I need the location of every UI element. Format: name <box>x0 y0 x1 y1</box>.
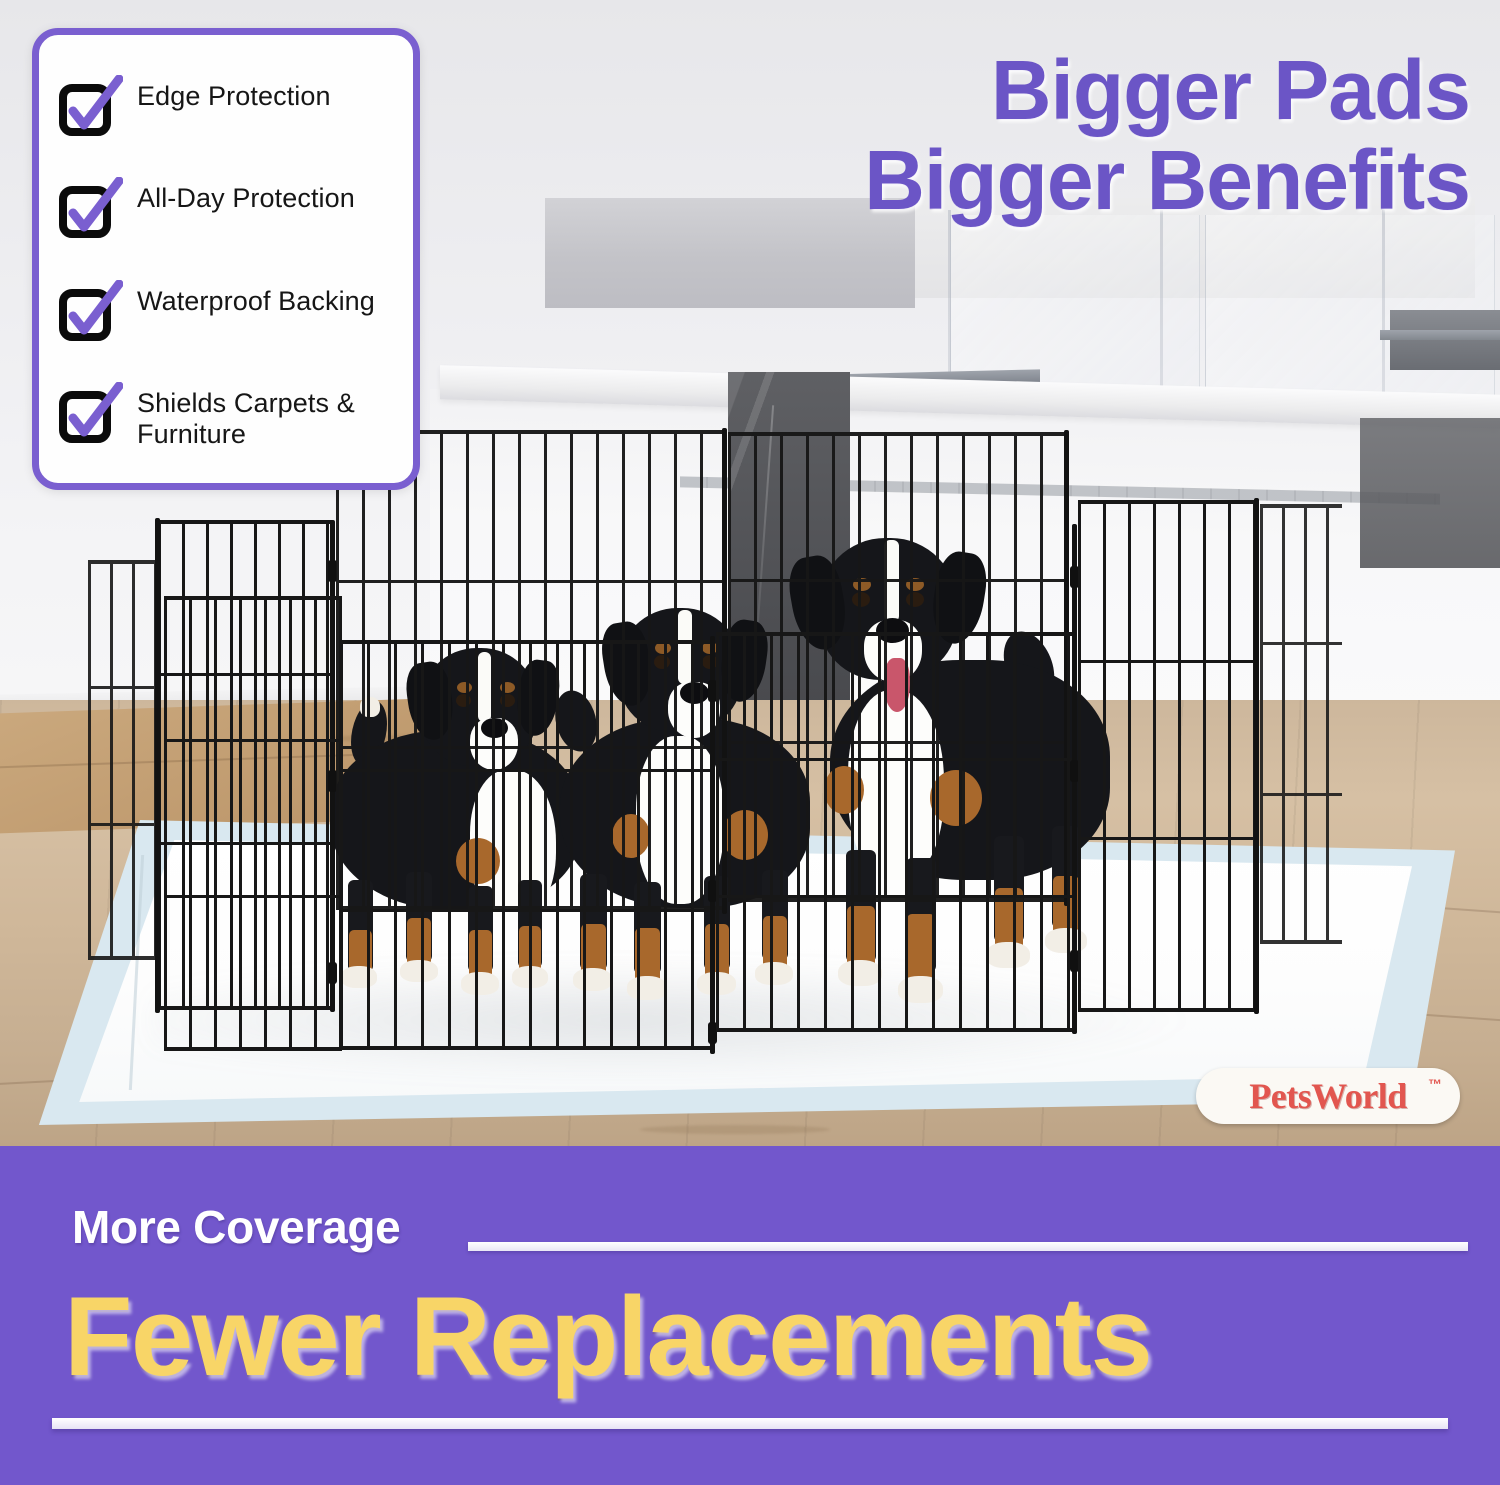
feature-item-waterproof-backing: Waterproof Backing <box>59 282 395 344</box>
pen-panel-right-rear <box>1260 504 1342 944</box>
banner-divider-top <box>468 1242 1468 1251</box>
trademark-symbol: ™ <box>1428 1076 1442 1092</box>
main-headline: Bigger Pads Bigger Benefits <box>750 48 1470 222</box>
brand-logo: PetsWorld ™ <box>1196 1068 1460 1124</box>
banner-eyebrow: More Coverage <box>72 1200 400 1254</box>
pen-panel-front-left <box>164 596 342 1051</box>
checkbox-check-icon <box>59 81 117 137</box>
feature-label: Waterproof Backing <box>137 284 375 318</box>
features-card: Edge Protection All-Day Protection Water… <box>32 28 420 490</box>
checkbox-check-icon <box>59 183 117 239</box>
pen-panel-back-left <box>88 560 160 960</box>
pen-panel-front-right <box>716 632 1074 1032</box>
checkbox-check-icon <box>59 286 117 342</box>
feature-label: Shields Carpets & Furniture <box>137 386 395 451</box>
banner-divider-bottom <box>52 1418 1448 1429</box>
feature-label: Edge Protection <box>137 79 331 113</box>
feature-item-all-day-protection: All-Day Protection <box>59 179 395 241</box>
banner-eyebrow-row: More Coverage <box>72 1200 1452 1260</box>
feature-label: All-Day Protection <box>137 181 355 215</box>
banner-headline: Fewer Replacements <box>64 1281 1464 1393</box>
feature-item-shields-carpets-furniture: Shields Carpets & Furniture <box>59 384 395 453</box>
pen-panel-right <box>1078 500 1258 1012</box>
pen-post <box>1254 498 1259 1014</box>
headline-line-1: Bigger Pads <box>750 48 1470 132</box>
pen-panel-front-center <box>340 640 712 1050</box>
product-infographic: PetsWorld ™ Edge Protection All-Day Prot… <box>0 0 1500 1485</box>
brand-name: PetsWorld <box>1249 1075 1406 1117</box>
checkbox-check-icon <box>59 388 117 444</box>
feature-item-edge-protection: Edge Protection <box>59 77 395 139</box>
headline-line-2: Bigger Benefits <box>750 138 1470 222</box>
pen-post <box>155 518 160 1013</box>
